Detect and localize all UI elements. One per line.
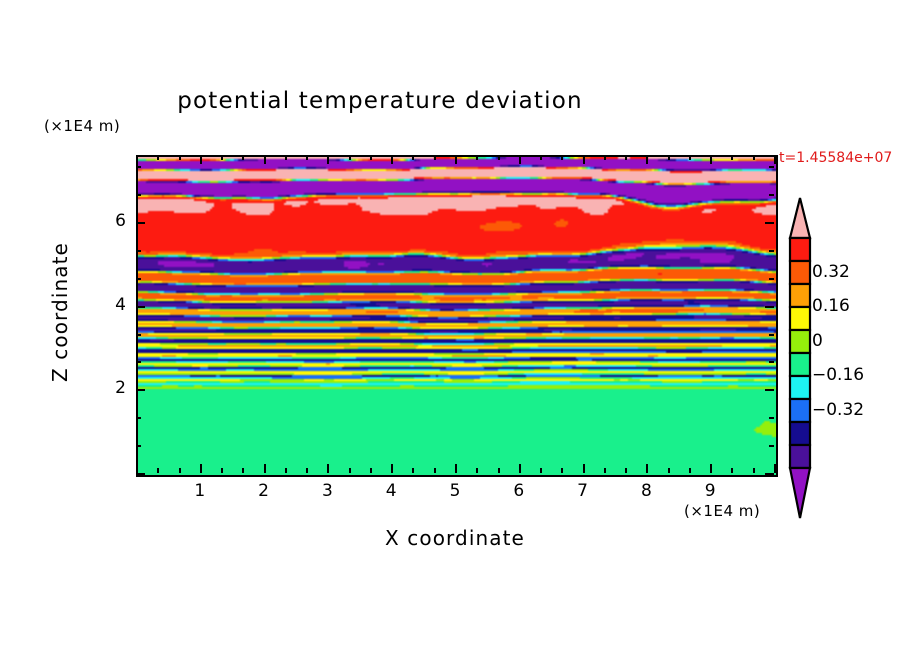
x-tick xyxy=(625,468,627,473)
colorbar-tick-label: 0.32 xyxy=(812,262,850,282)
x-tick xyxy=(583,155,585,164)
y-tick xyxy=(136,222,145,224)
x-tick xyxy=(540,468,542,473)
x-tick xyxy=(498,468,500,473)
x-tick-label: 9 xyxy=(690,481,730,501)
x-tick xyxy=(689,155,691,160)
x-tick xyxy=(710,155,712,164)
figure-canvas: potential temperature deviation (×1E4 m)… xyxy=(0,0,904,654)
colorbar-tick-label: −0.32 xyxy=(812,400,864,420)
y-tick xyxy=(765,389,774,391)
x-tick xyxy=(710,464,712,473)
x-tick xyxy=(285,468,287,473)
x-tick xyxy=(476,468,478,473)
x-tick xyxy=(646,464,648,473)
colorbar-tick-label: −0.16 xyxy=(812,365,864,385)
x-tick xyxy=(604,468,606,473)
x-tick xyxy=(327,155,329,164)
page-title: potential temperature deviation xyxy=(0,88,760,114)
x-tick xyxy=(370,155,372,160)
y-tick-label: 2 xyxy=(86,378,126,398)
x-tick-label: 3 xyxy=(307,481,347,501)
colorbar-tick-label: 0.16 xyxy=(812,296,850,316)
x-tick-label: 2 xyxy=(244,481,284,501)
x-tick xyxy=(179,155,181,160)
contour-plot-area xyxy=(136,155,778,477)
x-tick-label: 7 xyxy=(563,481,603,501)
x-tick xyxy=(412,155,414,160)
x-tick xyxy=(391,155,393,164)
colorbar-band xyxy=(790,445,810,468)
y-axis-title: Z coordinate xyxy=(48,212,72,412)
y-tick xyxy=(769,334,774,336)
x-tick xyxy=(136,155,138,164)
y-tick-label: 6 xyxy=(86,211,126,231)
x-tick-label: 8 xyxy=(626,481,666,501)
x-tick xyxy=(327,464,329,473)
x-tick xyxy=(455,155,457,164)
y-tick xyxy=(765,473,774,475)
x-tick xyxy=(264,464,266,473)
x-tick xyxy=(264,155,266,164)
colorbar-tick-label: 0 xyxy=(812,331,823,351)
y-tick xyxy=(769,417,774,419)
y-tick xyxy=(136,417,141,419)
x-tick xyxy=(731,155,733,160)
y-tick xyxy=(136,389,145,391)
y-tick xyxy=(765,306,774,308)
x-tick xyxy=(434,468,436,473)
x-tick xyxy=(774,155,776,164)
colorbar-band xyxy=(790,376,810,399)
y-tick xyxy=(136,445,141,447)
temperature-deviation-field xyxy=(138,157,776,475)
x-tick xyxy=(625,155,627,160)
colorbar-gradient xyxy=(783,196,817,520)
x-tick-label: 6 xyxy=(499,481,539,501)
x-tick xyxy=(391,464,393,473)
x-tick xyxy=(455,464,457,473)
x-tick xyxy=(179,468,181,473)
x-tick xyxy=(200,155,202,164)
x-tick xyxy=(646,155,648,164)
y-tick xyxy=(769,361,774,363)
x-tick xyxy=(668,468,670,473)
x-tick xyxy=(519,464,521,473)
x-tick xyxy=(519,155,521,164)
x-tick xyxy=(136,464,138,473)
y-tick xyxy=(769,166,774,168)
y-tick xyxy=(136,473,145,475)
y-tick xyxy=(136,250,141,252)
x-tick xyxy=(221,155,223,160)
x-tick xyxy=(349,468,351,473)
colorbar-band xyxy=(790,330,810,353)
x-tick xyxy=(668,155,670,160)
x-tick xyxy=(306,155,308,160)
x-tick xyxy=(370,468,372,473)
colorbar-band xyxy=(790,284,810,307)
y-tick xyxy=(136,194,141,196)
y-tick xyxy=(769,250,774,252)
y-tick xyxy=(769,445,774,447)
x-tick xyxy=(349,155,351,160)
y-tick xyxy=(769,194,774,196)
x-tick xyxy=(604,155,606,160)
x-tick xyxy=(583,464,585,473)
x-tick xyxy=(157,155,159,160)
colorbar-band xyxy=(790,238,810,261)
colorbar-band xyxy=(790,422,810,445)
x-tick-label: 5 xyxy=(435,481,475,501)
x-tick-label: 1 xyxy=(180,481,220,501)
x-tick xyxy=(498,155,500,160)
x-tick xyxy=(561,155,563,160)
x-tick xyxy=(540,155,542,160)
y-tick xyxy=(136,334,141,336)
x-axis-unit-label: (×1E4 m) xyxy=(684,502,760,520)
x-tick xyxy=(306,468,308,473)
x-tick xyxy=(753,155,755,160)
colorbar-extend-top xyxy=(790,198,810,238)
y-tick xyxy=(136,278,141,280)
x-tick xyxy=(242,155,244,160)
x-tick xyxy=(285,155,287,160)
x-tick xyxy=(412,468,414,473)
x-tick xyxy=(242,468,244,473)
y-tick xyxy=(769,278,774,280)
y-axis-unit-label: (×1E4 m) xyxy=(44,117,120,135)
y-tick-label: 4 xyxy=(86,295,126,315)
colorbar-band xyxy=(790,307,810,330)
x-tick xyxy=(731,468,733,473)
x-tick-label: 4 xyxy=(371,481,411,501)
y-tick xyxy=(765,222,774,224)
x-axis-title: X coordinate xyxy=(0,526,904,550)
colorbar xyxy=(783,196,817,520)
y-tick xyxy=(136,306,145,308)
y-tick xyxy=(136,166,141,168)
colorbar-band xyxy=(790,353,810,376)
x-tick xyxy=(476,155,478,160)
colorbar-extend-bottom xyxy=(790,468,810,518)
x-tick xyxy=(434,155,436,160)
colorbar-band xyxy=(790,399,810,422)
x-tick xyxy=(753,468,755,473)
simulation-time-annotation: t=1.45584e+07 xyxy=(779,150,892,166)
colorbar-band xyxy=(790,261,810,284)
y-tick xyxy=(136,361,141,363)
x-tick xyxy=(561,468,563,473)
x-tick xyxy=(689,468,691,473)
x-tick xyxy=(774,464,776,473)
x-tick xyxy=(200,464,202,473)
x-tick xyxy=(157,468,159,473)
x-tick xyxy=(221,468,223,473)
